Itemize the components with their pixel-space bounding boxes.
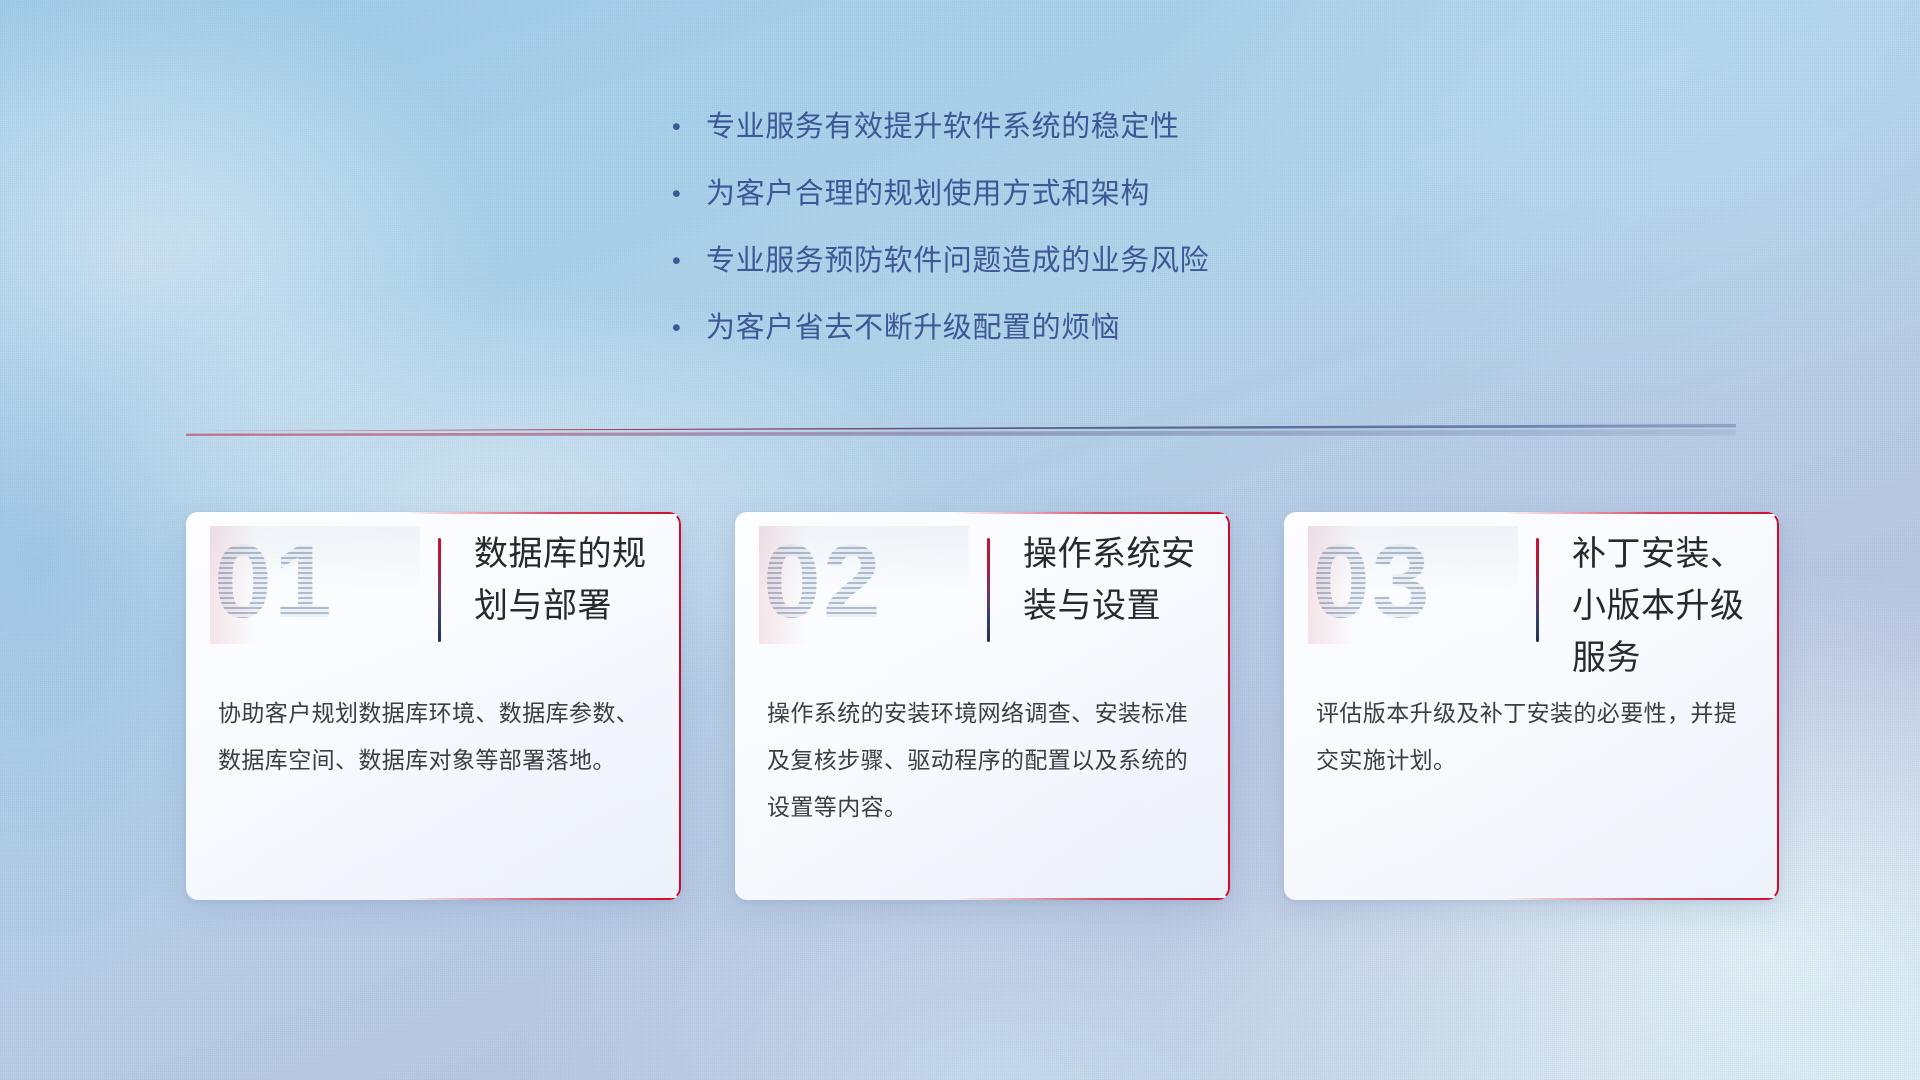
bullet-item-3: • 专业服务预防软件问题造成的业务风险 bbox=[672, 242, 1432, 280]
bullet-marker-icon: • bbox=[672, 175, 706, 213]
bullet-item-1: • 专业服务有效提升软件系统的稳定性 bbox=[672, 108, 1432, 146]
bullet-item-1-label: 专业服务有效提升软件系统的稳定性 bbox=[706, 108, 1180, 146]
card-03-divider-bar bbox=[1536, 538, 1539, 642]
card-03-title: 补丁安装、小版本升级服务 bbox=[1572, 528, 1761, 684]
card-01-number: 01 bbox=[214, 530, 334, 634]
service-card-03[interactable]: 03 03 补丁安装、小版本升级服务 评估版本升级及补丁安装的必要性，并提交实施… bbox=[1284, 512, 1779, 900]
bullet-item-4: • 为客户省去不断升级配置的烦恼 bbox=[672, 309, 1432, 347]
card-02-header: 02 02 操作系统安装与设置 bbox=[735, 512, 1230, 664]
service-card-02[interactable]: 02 02 操作系统安装与设置 操作系统的安装环境网络调查、安装标准及复核步骤、… bbox=[735, 512, 1230, 900]
bullet-item-4-label: 为客户省去不断升级配置的烦恼 bbox=[706, 309, 1120, 347]
service-card-01[interactable]: 01 01 数据库的规划与部署 协助客户规划数据库环境、数据库参数、数据库空间、… bbox=[186, 512, 681, 900]
card-02-body: 操作系统的安装环境网络调查、安装标准及复核步骤、驱动程序的配置以及系统的设置等内… bbox=[767, 690, 1202, 831]
bullet-item-2: • 为客户合理的规划使用方式和架构 bbox=[672, 175, 1432, 213]
bullet-marker-icon: • bbox=[672, 108, 706, 146]
card-02-title: 操作系统安装与设置 bbox=[1023, 528, 1212, 632]
bullet-item-3-label: 专业服务预防软件问题造成的业务风险 bbox=[706, 242, 1209, 280]
card-03-header: 03 03 补丁安装、小版本升级服务 bbox=[1284, 512, 1779, 664]
card-01-body: 协助客户规划数据库环境、数据库参数、数据库空间、数据库对象等部署落地。 bbox=[218, 690, 653, 784]
service-cards-row: 01 01 数据库的规划与部署 协助客户规划数据库环境、数据库参数、数据库空间、… bbox=[0, 512, 1920, 912]
card-02-number: 02 bbox=[763, 530, 883, 634]
card-03-number: 03 bbox=[1312, 530, 1432, 634]
card-01-title: 数据库的规划与部署 bbox=[474, 528, 663, 632]
benefits-bullet-list: • 专业服务有效提升软件系统的稳定性 • 为客户合理的规划使用方式和架构 • 专… bbox=[672, 108, 1432, 376]
card-02-divider-bar bbox=[987, 538, 990, 642]
card-03-body: 评估版本升级及补丁安装的必要性，并提交实施计划。 bbox=[1316, 690, 1751, 784]
card-01-divider-bar bbox=[438, 538, 441, 642]
bullet-marker-icon: • bbox=[672, 309, 706, 347]
card-01-header: 01 01 数据库的规划与部署 bbox=[186, 512, 681, 664]
bullet-marker-icon: • bbox=[672, 242, 706, 280]
bullet-item-2-label: 为客户合理的规划使用方式和架构 bbox=[706, 175, 1150, 213]
